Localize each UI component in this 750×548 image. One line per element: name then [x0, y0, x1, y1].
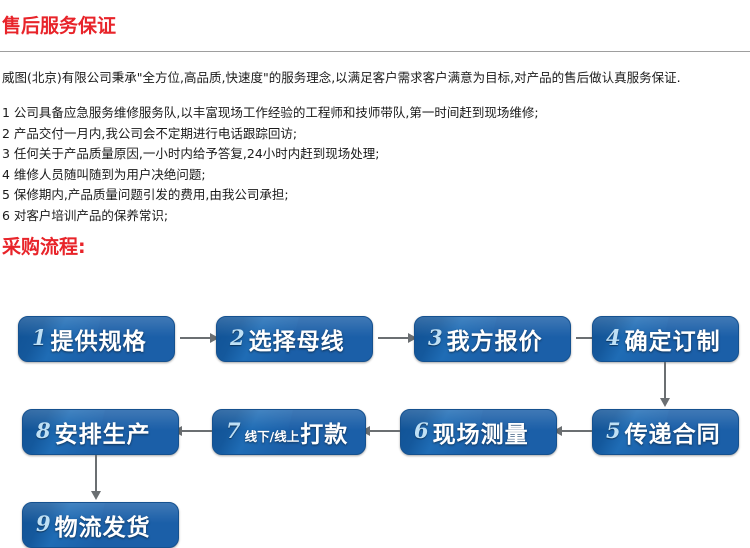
list-item: 3 任何关于产品质量原因,一小时内给予答复,24小时内赶到现场处理; — [2, 144, 750, 165]
flow-step-4: 4 确定订制 — [592, 316, 739, 362]
flow-step-label: 提供规格 — [51, 322, 161, 356]
flow-step-6: 6 现场测量 — [400, 409, 557, 455]
arrow-2-to-3 — [378, 337, 408, 339]
list-item: 1 公司具备应急服务维修服务队,以丰富现场工作经验的工程师和技师带队,第一时间赶… — [2, 103, 750, 124]
flow-step-number: 7 — [213, 418, 245, 445]
arrow-1-to-2 — [180, 337, 210, 339]
flow-diagram: 1 提供规格 2 选择母线 3 我方报价 4 确定订制 — [0, 276, 750, 506]
flow-step-number: 1 — [19, 325, 51, 352]
flow-step-prefix: 线下/线上 — [245, 426, 301, 445]
flow-step-8: 8 安排生产 — [22, 409, 179, 455]
title-divider — [0, 51, 750, 52]
flow-step-number: 3 — [415, 325, 447, 352]
purchase-flow-title: 采购流程: — [0, 234, 750, 260]
flow-step-number: 8 — [23, 418, 55, 445]
after-sales-section: 售后服务保证 威图(北京)有限公司秉承"全方位,高品质,快速度"的服务理念,以满… — [0, 0, 750, 226]
purchase-flow-section: 采购流程: 1 提供规格 2 选择母线 3 我方报价 4 确 — [0, 218, 750, 488]
arrow-5-to-6 — [562, 430, 592, 432]
flow-step-number: 4 — [593, 325, 625, 352]
arrow-7-to-8 — [182, 430, 212, 432]
flow-step-2: 2 选择母线 — [216, 316, 373, 362]
list-item: 5 保修期内,产品质量问题引发的费用,由我公司承担; — [2, 185, 750, 206]
arrow-6-to-7 — [370, 430, 400, 432]
flow-step-label: 确定订制 — [625, 322, 735, 356]
list-item: 2 产品交付一月内,我公司会不定期进行电话跟踪回访; — [2, 124, 750, 145]
arrow-4-to-5 — [664, 362, 666, 398]
guarantee-list: 1 公司具备应急服务维修服务队,以丰富现场工作经验的工程师和技师带队,第一时间赶… — [0, 97, 750, 226]
flow-step-number: 6 — [401, 418, 433, 445]
flow-step-label: 物流发货 — [55, 508, 165, 542]
flow-step-number: 5 — [593, 418, 625, 445]
flow-step-label: 选择母线 — [249, 322, 359, 356]
flow-step-3: 3 我方报价 — [414, 316, 571, 362]
after-sales-title: 售后服务保证 — [0, 13, 750, 39]
flow-step-7: 7 线下/线上打款 — [212, 409, 366, 455]
flow-step-number: 9 — [23, 511, 55, 538]
arrow-8-to-9 — [95, 455, 97, 491]
flow-step-label: 安排生产 — [55, 415, 165, 449]
flow-step-label: 现场测量 — [433, 415, 543, 449]
flow-step-label: 我方报价 — [447, 322, 557, 356]
flow-step-5: 5 传递合同 — [592, 409, 739, 455]
flow-step-label: 传递合同 — [625, 415, 735, 449]
list-item: 4 维修人员随叫随到为用户决绝问题; — [2, 165, 750, 186]
flow-step-9: 9 物流发货 — [22, 502, 179, 548]
flow-step-1: 1 提供规格 — [18, 316, 175, 362]
flow-step-label: 线下/线上打款 — [245, 415, 363, 449]
after-sales-intro: 威图(北京)有限公司秉承"全方位,高品质,快速度"的服务理念,以满足客户需求客户… — [0, 65, 750, 85]
flow-step-number: 2 — [217, 325, 249, 352]
